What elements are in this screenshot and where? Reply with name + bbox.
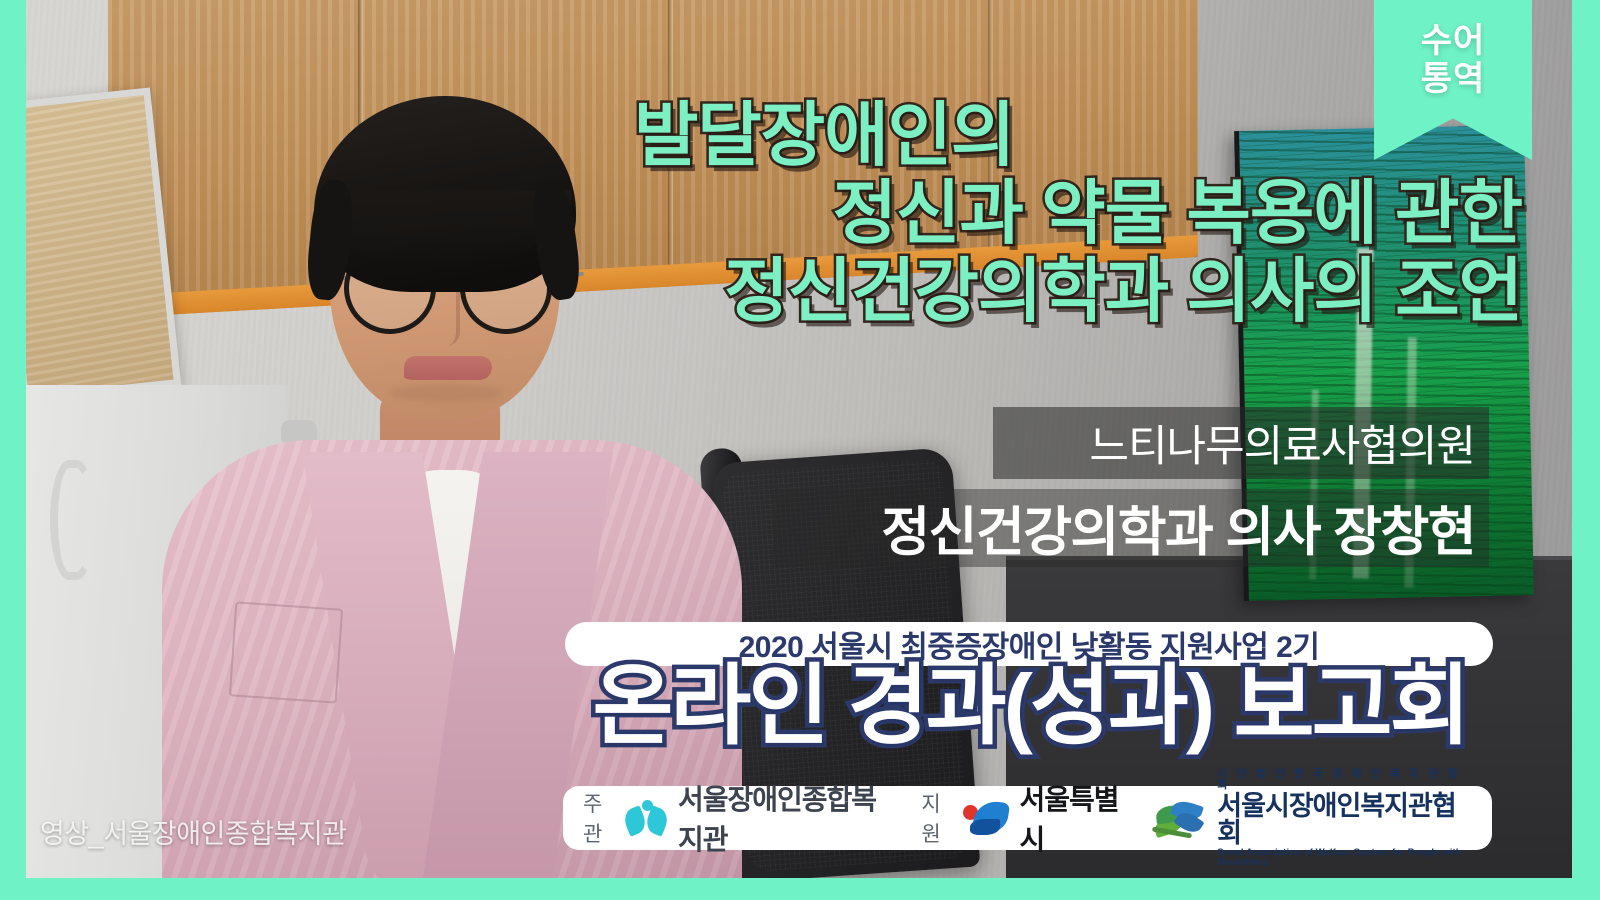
- association-name: 서울시장애인복지관협회: [1217, 793, 1472, 847]
- clinic-name: 느티나무의료사협의원: [1089, 412, 1475, 474]
- host-logo-group: 주관 서울장애인종합복지관: [583, 778, 889, 858]
- association-logo-group: 사 단 법 인 한 국 장 애 인 복 지 관 협 회 서울시장애인복지관협회 …: [1152, 769, 1472, 867]
- clinic-name-band: 느티나무의료사협의원: [993, 407, 1489, 479]
- association-top-line: 사 단 법 인 한 국 장 애 인 복 지 관 협 회: [1217, 769, 1472, 791]
- event-title: 온라인 경과(성과) 보고회: [540, 660, 1520, 752]
- support-logo-group: 지원 서울특별시: [921, 778, 1122, 858]
- badge-line-1: 수어: [1374, 22, 1532, 60]
- badge-line-2: 통역: [1374, 60, 1532, 98]
- seoul-city-logo-icon: [962, 799, 1010, 837]
- host-kicker: 주관: [583, 788, 616, 848]
- seoul-association-leaf-icon: [1152, 796, 1208, 840]
- seoul-welfare-center-bird-icon: [625, 800, 669, 836]
- headline-line-3: 정신건강의학과 의사의 조언: [612, 254, 1522, 328]
- doctor-name: 정신건강의학과 의사 장창현: [881, 490, 1475, 566]
- video-credit-watermark: 영상_서울장애인종합복지관: [40, 812, 347, 851]
- doctor-name-band: 정신건강의학과 의사 장창현: [773, 489, 1489, 567]
- headline-line-2: 정신과 약물 복용에 관한: [612, 176, 1522, 250]
- support-kicker: 지원: [921, 788, 953, 848]
- sponsor-logo-bar: 주관 서울장애인종합복지관 지원 서울특별시 사 단 법 인 한 국 장 애 인…: [563, 786, 1492, 850]
- video-thumbnail-stage: 수어 통역 발달장애인의 정신과 약물 복용에 관한 정신건강의학과 의사의 조…: [0, 0, 1600, 900]
- support-name: 서울특별시: [1019, 778, 1122, 858]
- host-name: 서울장애인종합복지관: [678, 778, 889, 858]
- hanging-cord: [50, 460, 96, 580]
- sign-language-badge-text: 수어 통역: [1374, 22, 1532, 98]
- association-text: 사 단 법 인 한 국 장 애 인 복 지 관 협 회 서울시장애인복지관협회 …: [1217, 769, 1472, 867]
- association-english-name: Seoul Association of Welfare Centers for…: [1217, 848, 1472, 867]
